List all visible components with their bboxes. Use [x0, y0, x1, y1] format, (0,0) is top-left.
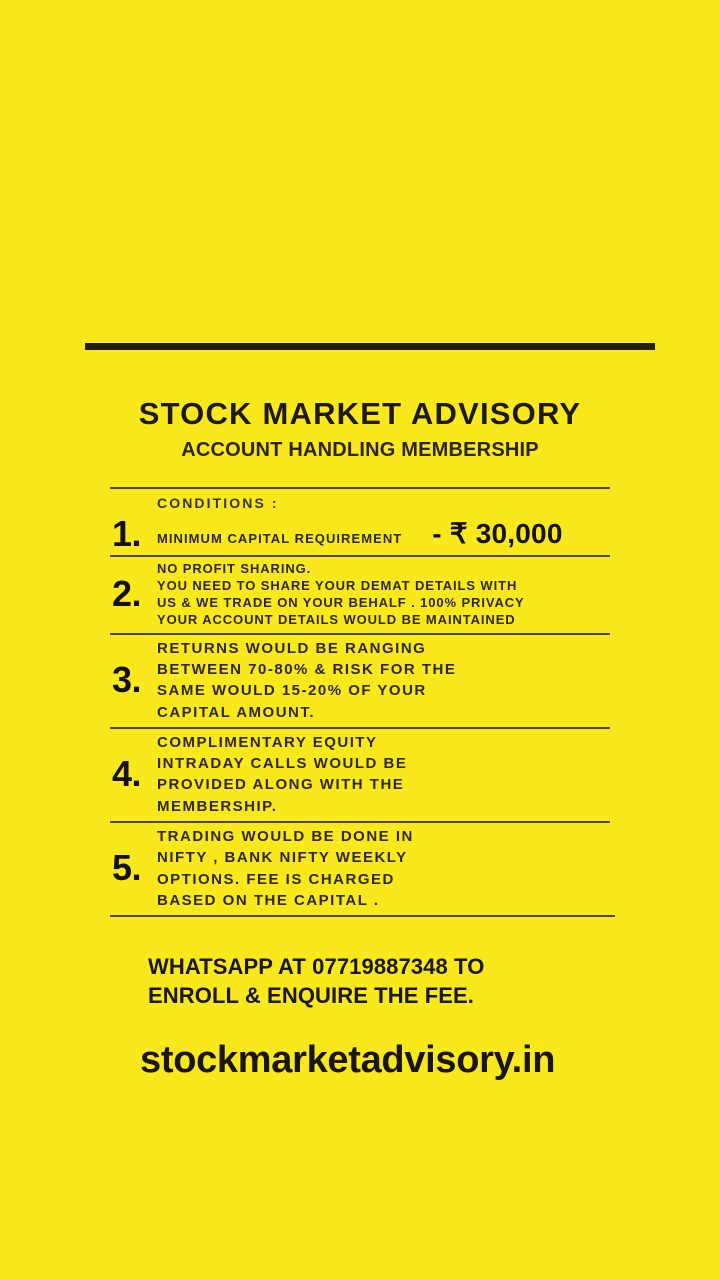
condition-2-line-1: NO PROFIT SHARING. — [157, 560, 610, 577]
condition-body-2: NO PROFIT SHARING. YOU NEED TO SHARE YOU… — [157, 560, 610, 629]
condition-number-2: 2. — [110, 577, 157, 611]
condition-body-3: RETURNS WOULD BE RANGING BETWEEN 70-80% … — [157, 638, 610, 723]
condition-2-line-2: YOU NEED TO SHARE YOUR DEMAT DETAILS WIT… — [157, 577, 610, 594]
condition-2-line-3: US & WE TRADE ON YOUR BEHALF . 100% PRIV… — [157, 594, 610, 611]
condition-4-line-1: COMPLIMENTARY EQUITY — [157, 732, 610, 753]
footer-block: WHATSAPP AT 07719887348 TO ENROLL & ENQU… — [148, 953, 668, 1082]
condition-row-1: 1. MINIMUM CAPITAL REQUIREMENT - ₹ 30,00… — [110, 514, 610, 555]
condition-5-line-1: TRADING WOULD BE DONE IN — [157, 826, 610, 847]
condition-3-line-3: SAME WOULD 15-20% OF YOUR — [157, 680, 610, 701]
condition-5-line-2: NIFTY , BANK NIFTY WEEKLY — [157, 847, 610, 868]
condition-4-line-4: MEMBERSHIP. — [157, 796, 610, 817]
condition-row-4: 4. COMPLIMENTARY EQUITY INTRADAY CALLS W… — [110, 729, 610, 821]
condition-row-5: 5. TRADING WOULD BE DONE IN NIFTY , BANK… — [110, 823, 610, 915]
whatsapp-cta-line-1: WHATSAPP AT 07719887348 TO — [148, 953, 668, 982]
condition-row-3: 3. RETURNS WOULD BE RANGING BETWEEN 70-8… — [110, 635, 610, 727]
condition-number-3: 3. — [110, 663, 157, 697]
condition-body-5: TRADING WOULD BE DONE IN NIFTY , BANK NI… — [157, 826, 610, 911]
top-rule-divider — [85, 343, 655, 350]
condition-5-line-4: BASED ON THE CAPITAL . — [157, 890, 610, 911]
page-title: STOCK MARKET ADVISORY — [0, 398, 720, 431]
condition-3-line-4: CAPITAL AMOUNT. — [157, 702, 610, 723]
conditions-list: CONDITIONS : 1. MINIMUM CAPITAL REQUIREM… — [110, 487, 610, 917]
condition-1-amount: - ₹ 30,000 — [432, 517, 562, 550]
condition-3-line-1: RETURNS WOULD BE RANGING — [157, 638, 610, 659]
condition-4-line-3: PROVIDED ALONG WITH THE — [157, 774, 610, 795]
divider-after-5 — [110, 915, 615, 917]
whatsapp-cta: WHATSAPP AT 07719887348 TO ENROLL & ENQU… — [148, 953, 668, 1010]
condition-1-label: MINIMUM CAPITAL REQUIREMENT — [157, 531, 402, 546]
condition-2-line-4: YOUR ACCOUNT DETAILS WOULD BE MAINTAINED — [157, 611, 610, 628]
whatsapp-cta-line-2: ENROLL & ENQUIRE THE FEE. — [148, 982, 668, 1011]
condition-body-4: COMPLIMENTARY EQUITY INTRADAY CALLS WOUL… — [157, 732, 610, 817]
condition-5-line-3: OPTIONS. FEE IS CHARGED — [157, 869, 610, 890]
conditions-label: CONDITIONS : — [110, 489, 610, 514]
condition-number-5: 5. — [110, 851, 157, 885]
condition-4-line-2: INTRADAY CALLS WOULD BE — [157, 753, 610, 774]
condition-number-4: 4. — [110, 757, 157, 791]
website-url[interactable]: stockmarketadvisory.in — [140, 1040, 668, 1082]
condition-3-line-2: BETWEEN 70-80% & RISK FOR THE — [157, 659, 610, 680]
condition-number-1: 1. — [110, 517, 157, 551]
condition-row-2: 2. NO PROFIT SHARING. YOU NEED TO SHARE … — [110, 557, 610, 633]
header-block: STOCK MARKET ADVISORY ACCOUNT HANDLING M… — [0, 398, 720, 461]
condition-body-1: MINIMUM CAPITAL REQUIREMENT - ₹ 30,000 — [157, 517, 610, 550]
page-subtitle: ACCOUNT HANDLING MEMBERSHIP — [0, 440, 720, 461]
poster-canvas: STOCK MARKET ADVISORY ACCOUNT HANDLING M… — [0, 0, 720, 1280]
